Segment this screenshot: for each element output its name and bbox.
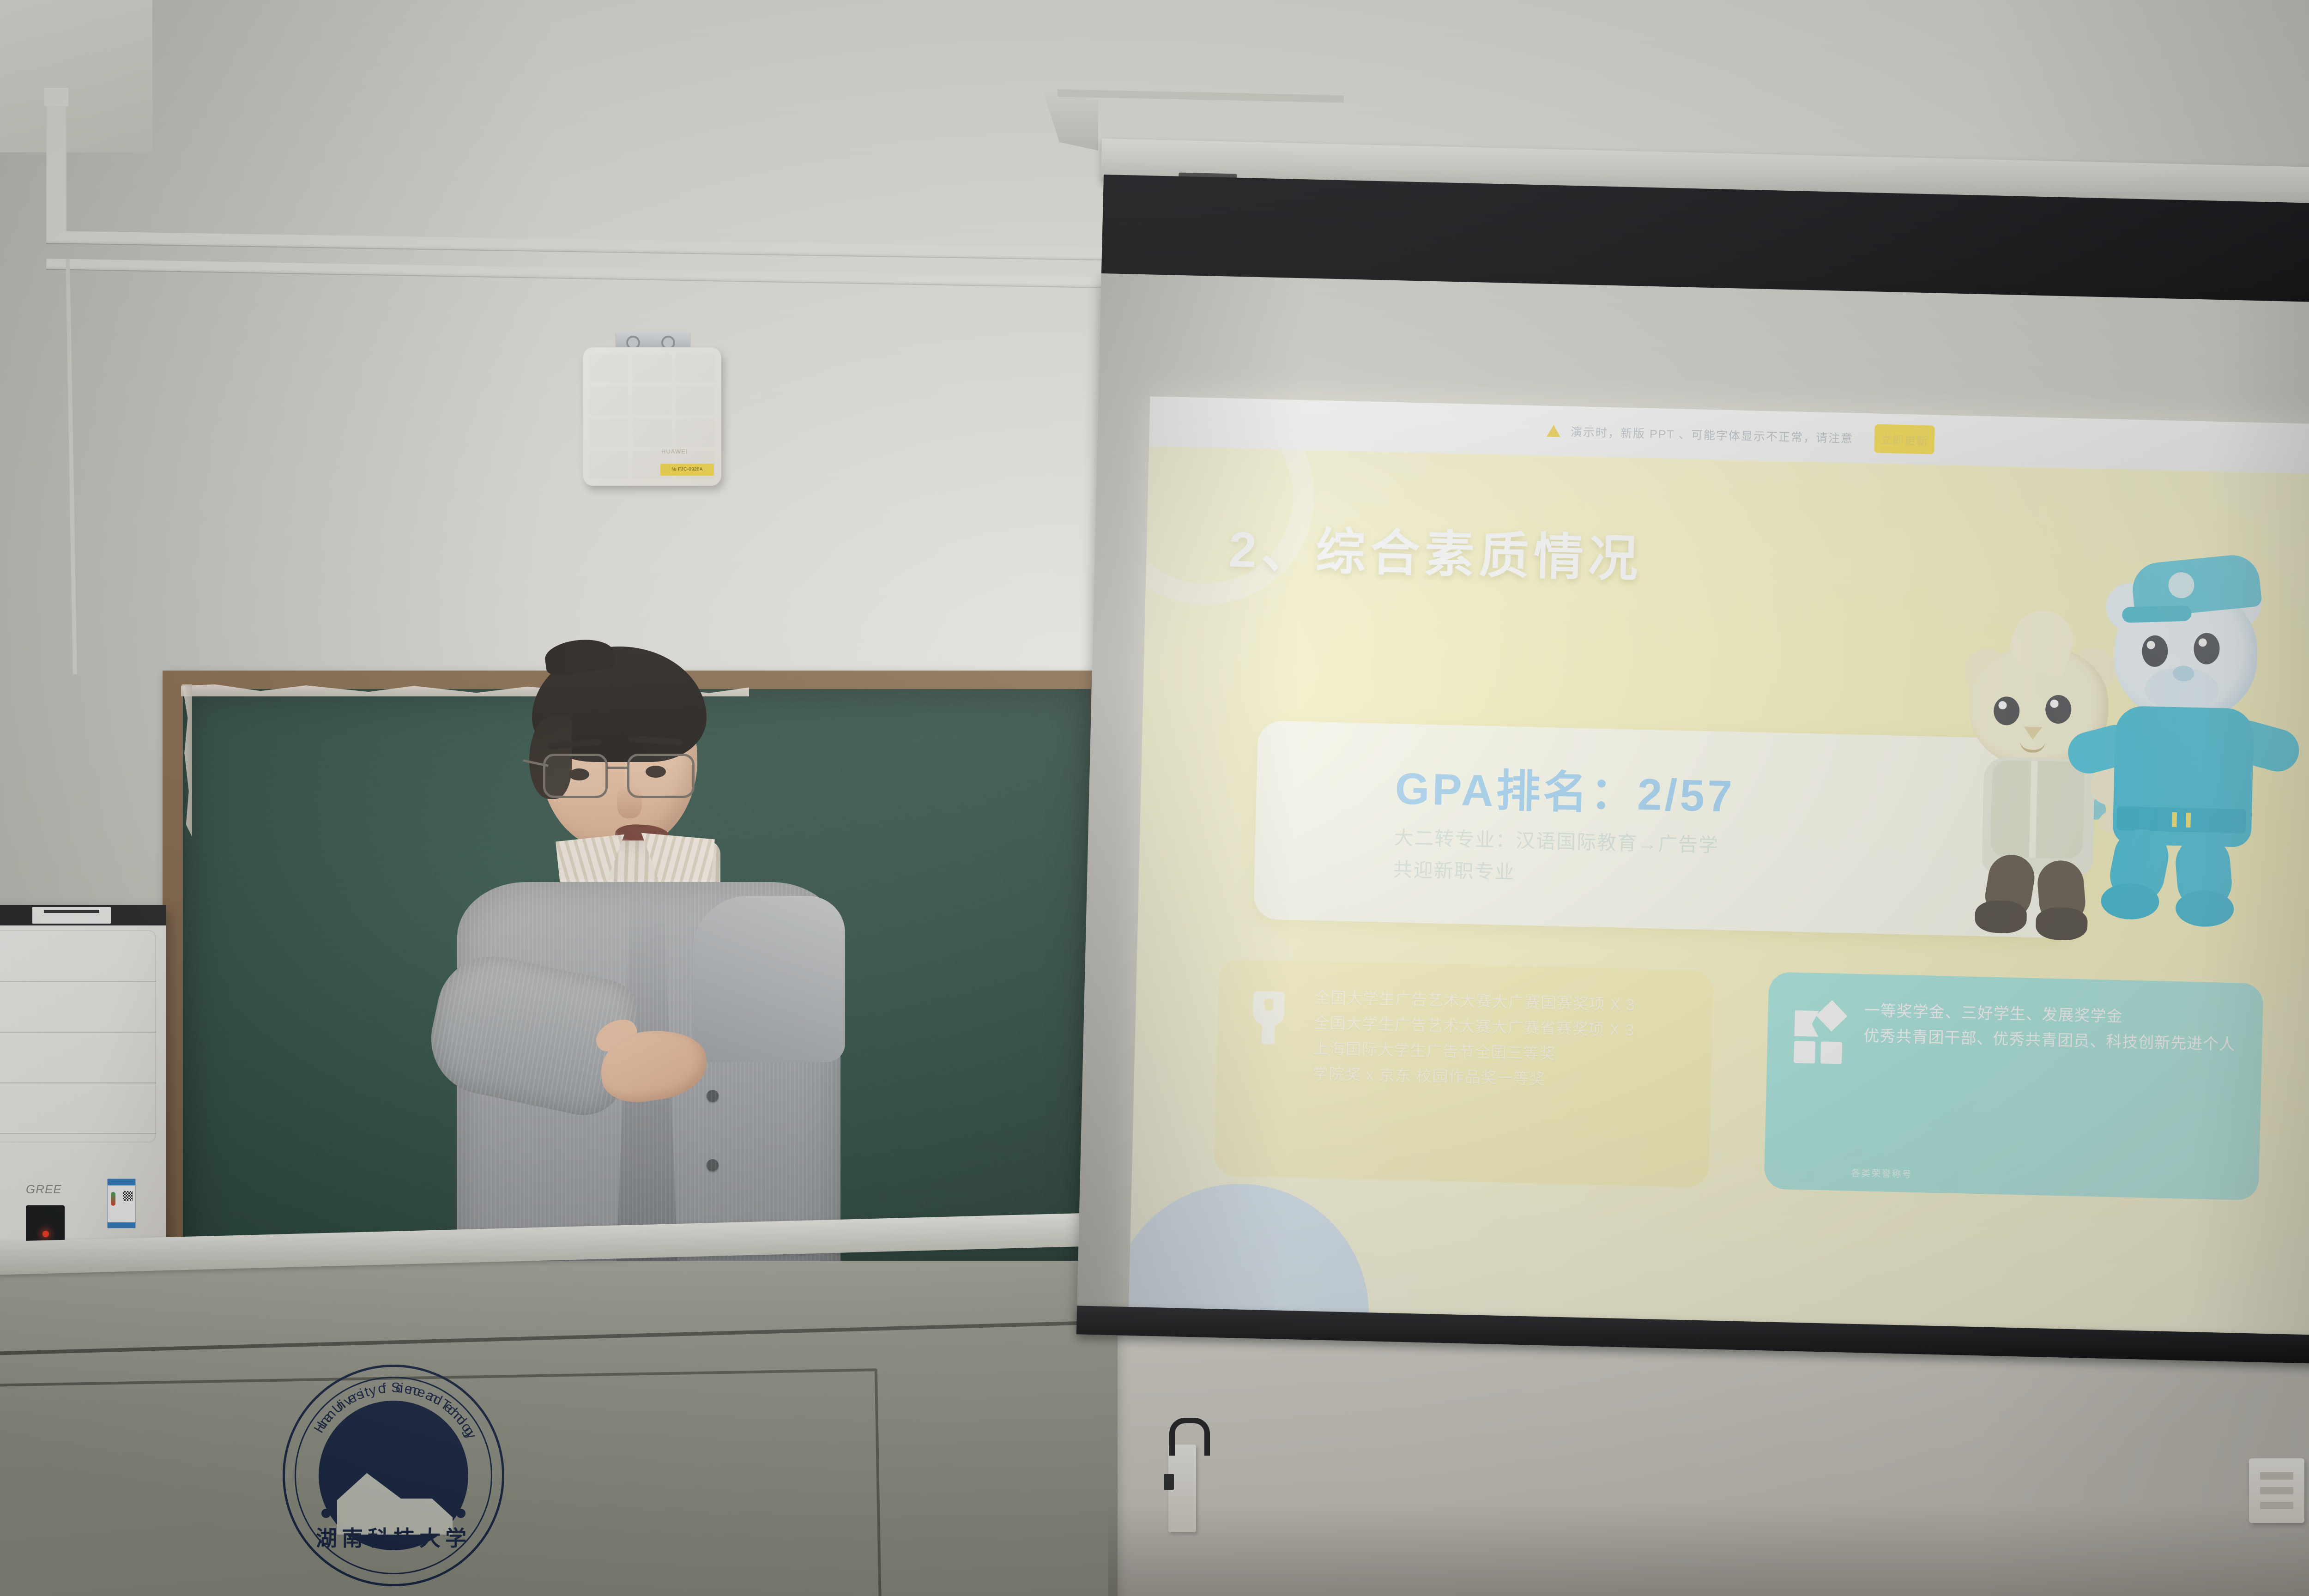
classroom-scene: HUAWEI № FJC-0928A GREE bbox=[0, 0, 2309, 1596]
photo-vignette bbox=[0, 0, 2309, 1596]
